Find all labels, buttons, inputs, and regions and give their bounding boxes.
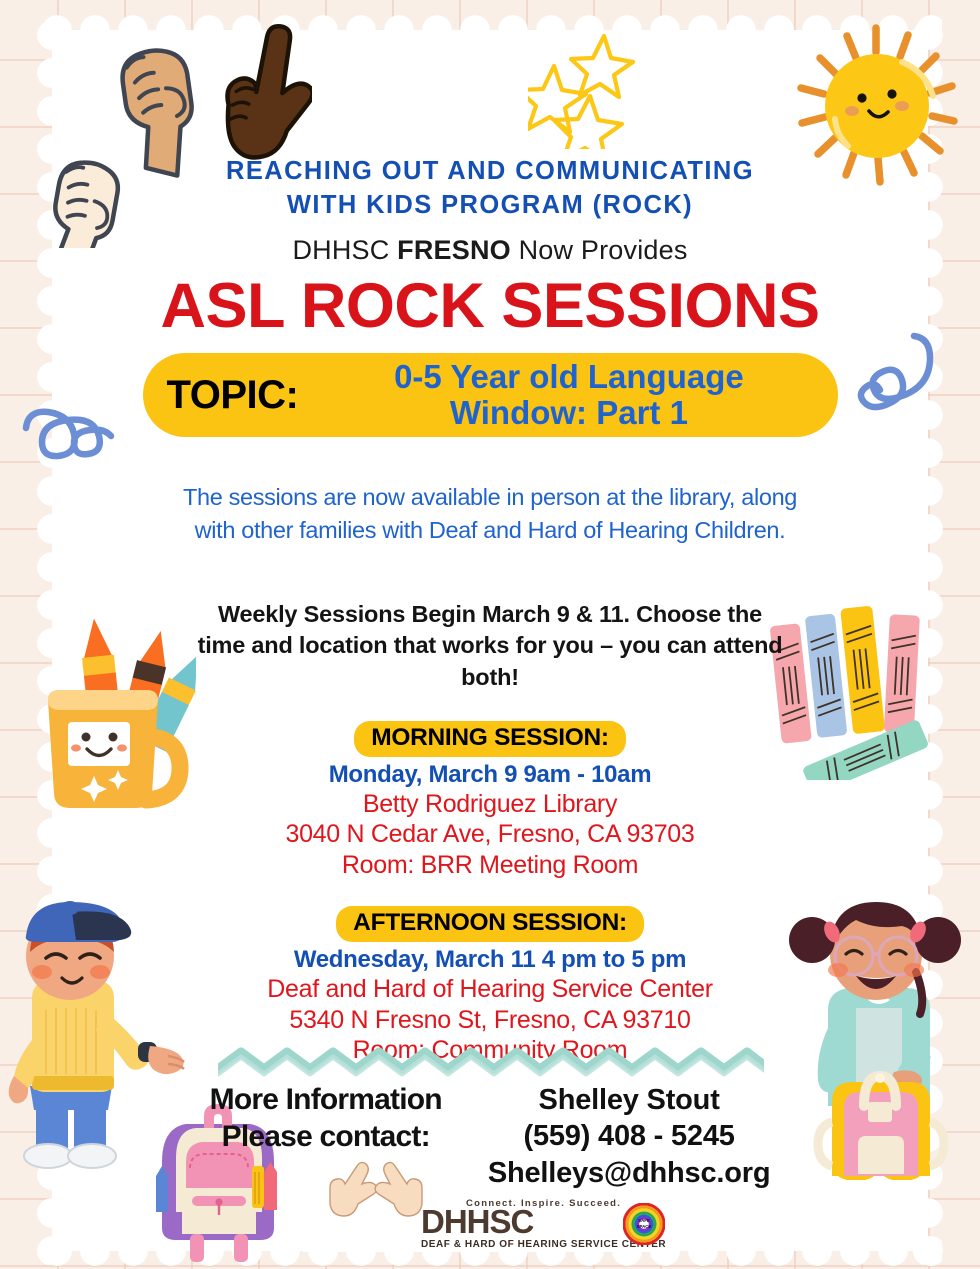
afternoon-session-datetime: Wednesday, March 11 4 pm to 5 pm xyxy=(0,946,980,974)
contact-label: More Information Please contact: xyxy=(210,1082,442,1155)
topic-banner: TOPIC: 0-5 Year old Language Window: Par… xyxy=(143,353,838,437)
safe-space-badge-icon: SAFE SPACE xyxy=(623,1203,665,1245)
provider-subheading: DHHSC FRESNO Now Provides xyxy=(292,235,687,266)
morning-session-venue: Betty Rodriguez Library xyxy=(0,789,980,820)
intro-paragraph: The sessions are now available in person… xyxy=(163,481,818,547)
topic-value-line-1: 0-5 Year old Language xyxy=(314,359,823,396)
contact-details: Shelley Stout (559) 408 - 5245 Shelleys@… xyxy=(488,1082,771,1191)
dhhsc-logo-footer: Connect. Inspire. Succeed. DHHSC DEAF & … xyxy=(303,1196,677,1252)
afternoon-session-address: 5340 N Fresno St, Fresno, CA 93710 xyxy=(0,1005,980,1036)
kicker-line-2: WITH KIDS PROGRAM (ROCK) xyxy=(226,189,754,223)
subhead-suffix: Now Provides xyxy=(511,235,688,265)
safe-space-line-1: SAFE xyxy=(638,1218,650,1223)
topic-value-line-2: Window: Part 1 xyxy=(314,395,823,432)
contact-email[interactable]: Shelleys@dhhsc.org xyxy=(488,1155,771,1191)
program-kicker: REACHING OUT AND COMMUNICATING WITH KIDS… xyxy=(226,155,754,222)
morning-session-block: MORNING SESSION: Monday, March 9 9am - 1… xyxy=(0,721,980,881)
safe-space-line-2: SPACE xyxy=(637,1224,652,1229)
contact-label-line-2: Please contact: xyxy=(210,1119,442,1156)
afternoon-session-venue: Deaf and Hard of Hearing Service Center xyxy=(0,974,980,1005)
contact-name: Shelley Stout xyxy=(488,1082,771,1118)
kicker-line-1: REACHING OUT AND COMMUNICATING xyxy=(226,155,754,189)
afternoon-session-badge: AFTERNOON SESSION: xyxy=(336,906,644,942)
contact-section: More Information Please contact: Shelley… xyxy=(0,1082,980,1191)
page-title: ASL ROCK SESSIONS xyxy=(161,273,820,339)
contact-phone[interactable]: (559) 408 - 5245 xyxy=(488,1118,771,1154)
topic-label: TOPIC: xyxy=(167,373,299,418)
wave-divider xyxy=(218,1045,764,1079)
subhead-city: FRESNO xyxy=(397,235,511,265)
weekly-sessions-note: Weekly Sessions Begin March 9 & 11. Choo… xyxy=(195,599,785,693)
morning-session-datetime: Monday, March 9 9am - 10am xyxy=(0,761,980,789)
afternoon-session-block: AFTERNOON SESSION: Wednesday, March 11 4… xyxy=(0,906,980,1066)
contact-label-line-1: More Information xyxy=(210,1082,442,1119)
subhead-prefix: DHHSC xyxy=(292,235,397,265)
morning-session-address: 3040 N Cedar Ave, Fresno, CA 93703 xyxy=(0,819,980,850)
topic-value: 0-5 Year old Language Window: Part 1 xyxy=(314,359,837,433)
morning-session-badge: MORNING SESSION: xyxy=(354,721,626,757)
morning-session-room: Room: BRR Meeting Room xyxy=(0,850,980,881)
